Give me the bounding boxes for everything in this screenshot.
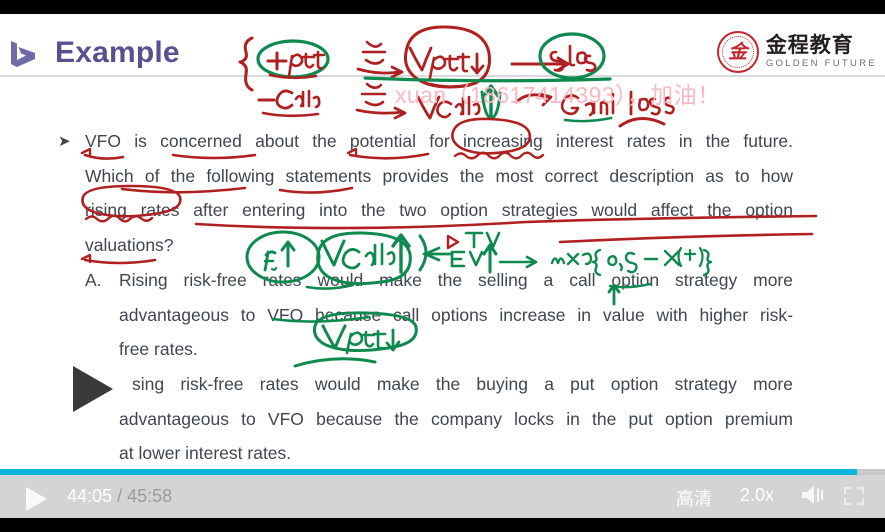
stem-line-2: Which of the following statements provid… — [85, 159, 793, 194]
watermark-text: xuan（18617414393），加油！ — [395, 76, 720, 110]
slide-canvas[interactable]: Example 金 金程教育 GOLDEN FUTURE ➤ VFO is co… — [0, 14, 885, 469]
quality-selector[interactable]: 高清 — [676, 485, 712, 511]
brand-logo: 金 金程教育 GOLDEN FUTURE — [717, 32, 877, 72]
page-title: Example — [55, 36, 180, 70]
stem-line-4: valuations? — [85, 228, 793, 263]
option-a-line-2: advantageous to VFO because call options… — [119, 298, 793, 333]
playback-speed-selector[interactable]: 2.0x — [740, 485, 774, 506]
seal-glyph: 金 — [728, 43, 747, 62]
progress-bar-track[interactable] — [0, 469, 885, 475]
option-b-line-3: at lower interest rates. — [119, 436, 793, 469]
letterbox-bottom — [0, 518, 885, 532]
volume-icon[interactable] — [800, 485, 826, 505]
option-b-line-2: advantageous to VFO because the company … — [119, 402, 793, 437]
option-a-line-1: Rising risk-free rates would make the se… — [119, 263, 793, 298]
logo-english-name: GOLDEN FUTURE — [766, 59, 877, 69]
stem-line-3: rising rates after entering into the two… — [85, 193, 793, 228]
current-time: 44:05 — [67, 486, 112, 506]
bing-logo-icon — [8, 40, 38, 68]
question-stem: ➤ VFO is concerned about the potential f… — [0, 124, 885, 262]
bullet-arrow-icon: ➤ — [58, 125, 71, 160]
option-a[interactable]: A. Rising risk-free rates would make the… — [0, 263, 885, 367]
stem-line-1: VFO is concerned about the potential for… — [85, 124, 793, 159]
fullscreen-icon[interactable] — [843, 486, 865, 506]
play-button[interactable] — [26, 487, 47, 511]
option-b-line-1: sing risk-free rates would make the buyi… — [132, 367, 793, 402]
letterbox-top — [0, 0, 885, 14]
option-a-label: A. — [85, 263, 102, 298]
video-player: Example 金 金程教育 GOLDEN FUTURE ➤ VFO is co… — [0, 0, 885, 532]
total-time: 45:58 — [127, 486, 172, 506]
logo-text: 金程教育 GOLDEN FUTURE — [766, 35, 877, 69]
logo-chinese-name: 金程教育 — [766, 35, 877, 56]
player-control-bar[interactable]: 44:05 / 45:58 高清 2.0x — [0, 469, 885, 518]
option-b[interactable]: B. sing risk-free rates would make the b… — [0, 367, 885, 469]
play-cursor-icon[interactable] — [73, 366, 113, 412]
time-separator: / — [117, 486, 122, 506]
progress-bar-fill[interactable] — [0, 469, 857, 475]
time-display: 44:05 / 45:58 — [67, 486, 172, 507]
option-a-line-3: free rates. — [119, 332, 793, 367]
seal-icon: 金 — [717, 31, 759, 73]
slide-header: Example 金 金程教育 GOLDEN FUTURE — [0, 14, 885, 76]
